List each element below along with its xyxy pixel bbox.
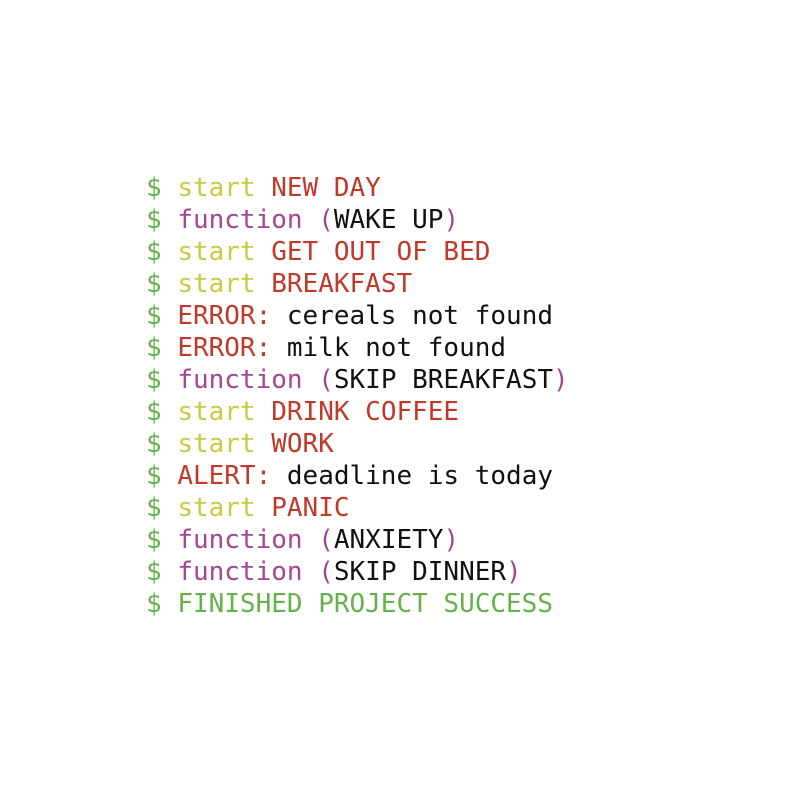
keyword-start: start	[177, 493, 255, 523]
subject-text: GET OUT OF BED	[271, 237, 490, 267]
prompt-symbol: $	[146, 269, 162, 299]
terminal-line: $ function (ANXIETY)	[146, 524, 766, 556]
space	[303, 365, 319, 395]
keyword-error: ERROR:	[177, 333, 271, 363]
argument-text: ANXIETY	[334, 525, 444, 555]
subject-text: BREAKFAST	[271, 269, 412, 299]
space	[303, 557, 319, 587]
open-paren: (	[318, 525, 334, 555]
message-text: deadline is today	[287, 461, 553, 491]
prompt-symbol: $	[146, 397, 162, 427]
space	[256, 429, 272, 459]
terminal-line: $ function (WAKE UP)	[146, 204, 766, 236]
open-paren: (	[318, 205, 334, 235]
subject-text: DRINK COFFEE	[271, 397, 459, 427]
message-text: cereals not found	[287, 301, 553, 331]
close-paren: )	[506, 557, 522, 587]
argument-text: SKIP BREAKFAST	[334, 365, 553, 395]
space	[162, 301, 178, 331]
close-paren: )	[443, 525, 459, 555]
prompt-symbol: $	[146, 557, 162, 587]
message-text: milk not found	[287, 333, 506, 363]
space	[162, 589, 178, 619]
subject-text: NEW DAY	[271, 173, 381, 203]
prompt-symbol: $	[146, 461, 162, 491]
terminal-line: $ ERROR: milk not found	[146, 332, 766, 364]
space	[271, 333, 287, 363]
keyword-function: function	[177, 365, 302, 395]
space	[271, 461, 287, 491]
space	[162, 429, 178, 459]
keyword-start: start	[177, 429, 255, 459]
keyword-start: start	[177, 237, 255, 267]
argument-text: SKIP DINNER	[334, 557, 506, 587]
space	[256, 397, 272, 427]
subject-text: WORK	[271, 429, 334, 459]
prompt-symbol: $	[146, 493, 162, 523]
space	[271, 301, 287, 331]
open-paren: (	[318, 557, 334, 587]
space	[303, 525, 319, 555]
prompt-symbol: $	[146, 301, 162, 331]
terminal-line: $ start PANIC	[146, 492, 766, 524]
close-paren: )	[443, 205, 459, 235]
space	[162, 333, 178, 363]
prompt-symbol: $	[146, 525, 162, 555]
space	[256, 237, 272, 267]
terminal-line: $ FINISHED PROJECT SUCCESS	[146, 588, 766, 620]
keyword-start: start	[177, 173, 255, 203]
subject-text: PANIC	[271, 493, 349, 523]
terminal-line: $ start NEW DAY	[146, 172, 766, 204]
space	[162, 205, 178, 235]
terminal-log: $ start NEW DAY$ function (WAKE UP)$ sta…	[146, 172, 766, 620]
keyword-start: start	[177, 397, 255, 427]
space	[162, 461, 178, 491]
space	[162, 397, 178, 427]
terminal-line: $ function (SKIP DINNER)	[146, 556, 766, 588]
space	[162, 493, 178, 523]
keyword-success: FINISHED PROJECT SUCCESS	[177, 589, 553, 619]
prompt-symbol: $	[146, 173, 162, 203]
terminal-line: $ start GET OUT OF BED	[146, 236, 766, 268]
prompt-symbol: $	[146, 237, 162, 267]
keyword-function: function	[177, 557, 302, 587]
open-paren: (	[318, 365, 334, 395]
prompt-symbol: $	[146, 429, 162, 459]
terminal-line: $ start DRINK COFFEE	[146, 396, 766, 428]
prompt-symbol: $	[146, 589, 162, 619]
terminal-canvas: $ start NEW DAY$ function (WAKE UP)$ sta…	[0, 0, 800, 800]
terminal-line: $ ALERT: deadline is today	[146, 460, 766, 492]
terminal-line: $ function (SKIP BREAKFAST)	[146, 364, 766, 396]
terminal-line: $ ERROR: cereals not found	[146, 300, 766, 332]
space	[256, 269, 272, 299]
space	[162, 173, 178, 203]
space	[162, 269, 178, 299]
space	[162, 525, 178, 555]
space	[162, 237, 178, 267]
prompt-symbol: $	[146, 333, 162, 363]
terminal-line: $ start WORK	[146, 428, 766, 460]
prompt-symbol: $	[146, 365, 162, 395]
space	[162, 557, 178, 587]
close-paren: )	[553, 365, 569, 395]
space	[162, 365, 178, 395]
keyword-alert: ALERT:	[177, 461, 271, 491]
keyword-start: start	[177, 269, 255, 299]
keyword-function: function	[177, 525, 302, 555]
space	[303, 205, 319, 235]
keyword-error: ERROR:	[177, 301, 271, 331]
space	[256, 493, 272, 523]
space	[256, 173, 272, 203]
keyword-function: function	[177, 205, 302, 235]
terminal-line: $ start BREAKFAST	[146, 268, 766, 300]
argument-text: WAKE UP	[334, 205, 444, 235]
prompt-symbol: $	[146, 205, 162, 235]
